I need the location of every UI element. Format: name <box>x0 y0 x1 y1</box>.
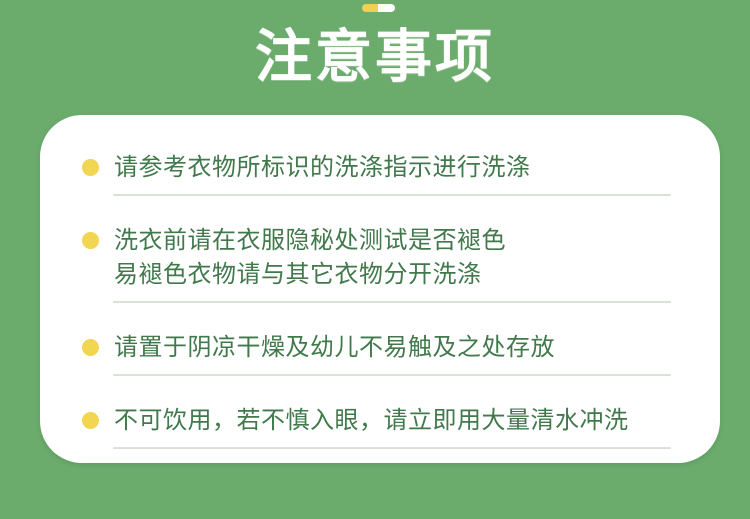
list-item-divider <box>113 194 671 196</box>
notice-page: 注意事项 请参考衣物所标识的洗涤指示进行洗涤 洗衣前请在衣服隐秘处测试是否褪色 … <box>0 0 750 519</box>
bullet-dot-icon <box>82 232 99 249</box>
list-item-text: 不可饮用，若不慎入眼，请立即用大量清水冲洗 <box>114 404 682 438</box>
decorative-bar <box>362 4 395 12</box>
list-item-divider <box>113 374 671 376</box>
decorative-bar-left-segment <box>362 4 378 12</box>
list-gap <box>82 311 682 331</box>
notice-list: 请参考衣物所标识的洗涤指示进行洗涤 洗衣前请在衣服隐秘处测试是否褪色 易褪色衣物… <box>82 151 682 457</box>
bullet-dot-icon <box>82 159 99 176</box>
list-item-text: 请置于阴凉干燥及幼儿不易触及之处存放 <box>114 331 682 365</box>
list-item-divider <box>113 447 671 449</box>
list-item: 请参考衣物所标识的洗涤指示进行洗涤 <box>82 151 682 196</box>
bullet-dot-icon <box>82 339 99 356</box>
list-item-text: 请参考衣物所标识的洗涤指示进行洗涤 <box>114 151 682 185</box>
list-gap <box>82 384 682 404</box>
page-title: 注意事项 <box>0 22 750 92</box>
list-item-text: 洗衣前请在衣服隐秘处测试是否褪色 易褪色衣物请与其它衣物分开洗涤 <box>114 224 682 292</box>
bullet-dot-icon <box>82 412 99 429</box>
notice-card: 请参考衣物所标识的洗涤指示进行洗涤 洗衣前请在衣服隐秘处测试是否褪色 易褪色衣物… <box>40 115 720 463</box>
list-item: 洗衣前请在衣服隐秘处测试是否褪色 易褪色衣物请与其它衣物分开洗涤 <box>82 224 682 303</box>
list-gap <box>82 204 682 224</box>
list-item-divider <box>113 301 671 303</box>
list-item: 不可饮用，若不慎入眼，请立即用大量清水冲洗 <box>82 404 682 449</box>
decorative-bar-right-segment <box>378 4 395 12</box>
list-item: 请置于阴凉干燥及幼儿不易触及之处存放 <box>82 331 682 376</box>
